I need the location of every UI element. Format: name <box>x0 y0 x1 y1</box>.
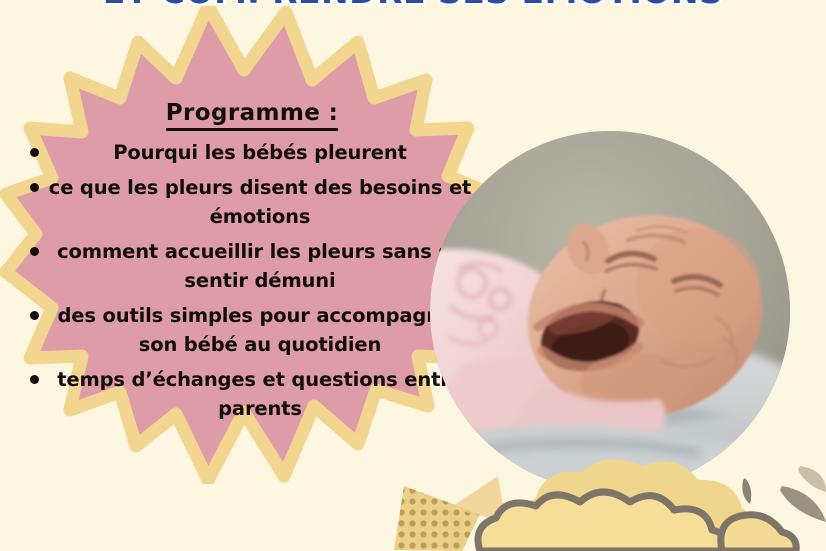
programme-heading: Programme : <box>8 100 478 126</box>
bullet-dot-icon <box>30 247 39 256</box>
list-item-text: ce que les pleurs disent des besoins et … <box>48 173 478 231</box>
list-item-text: temps d’échanges et questions entre pare… <box>48 365 478 423</box>
poster-canvas: ET COMPRENDRE SES EMOTIONS Programme : P… <box>0 0 826 551</box>
programme-list: Pourqui les bébés pleurent ce que les pl… <box>8 138 478 423</box>
list-item: temps d’échanges et questions entre pare… <box>8 365 478 423</box>
crying-baby-photo <box>430 131 790 491</box>
list-item-text: des outils simples pour accompagner son … <box>48 301 478 359</box>
programme-block: Programme : Pourqui les bébés pleurent c… <box>8 100 478 429</box>
list-item: ce que les pleurs disent des besoins et … <box>8 173 478 231</box>
bullet-dot-icon <box>30 311 39 320</box>
bullet-dot-icon <box>30 375 39 384</box>
list-item: des outils simples pour accompagner son … <box>8 301 478 359</box>
bullet-dot-icon <box>30 183 39 192</box>
list-item: Pourqui les bébés pleurent <box>8 138 478 167</box>
list-item-text: comment accueillir les pleurs sans se se… <box>48 237 478 295</box>
list-item: comment accueillir les pleurs sans se se… <box>8 237 478 295</box>
list-item-text: Pourqui les bébés pleurent <box>48 138 478 167</box>
bullet-dot-icon <box>30 148 39 157</box>
programme-heading-text: Programme : <box>166 100 338 131</box>
